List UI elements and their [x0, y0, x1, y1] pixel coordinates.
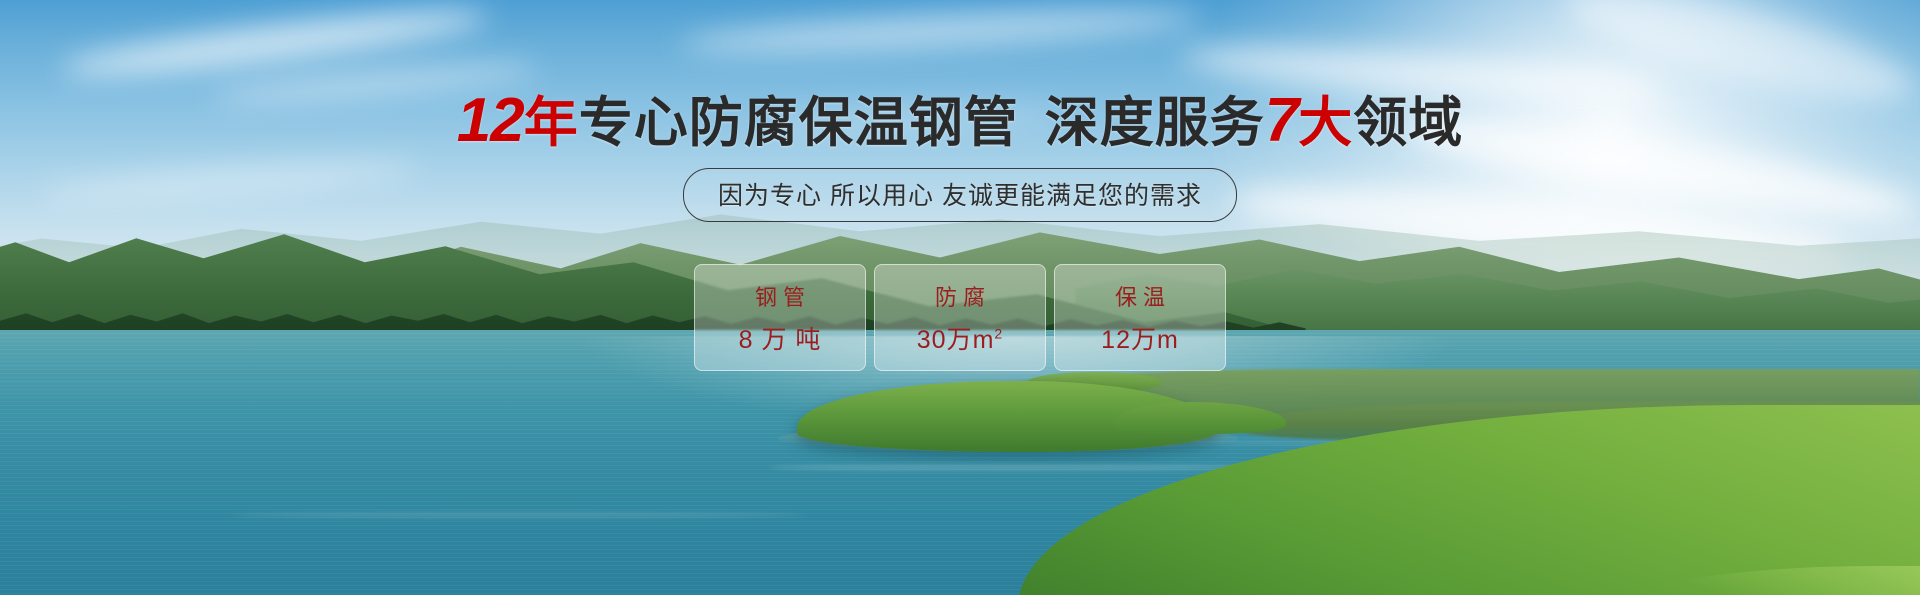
- stat-card-title: 保温: [1109, 280, 1171, 312]
- stat-card-value-text: 12万m: [1101, 326, 1179, 354]
- stat-card-anticorrosion: 防腐 30万m2: [874, 264, 1046, 371]
- headline-fields-number: 7: [1265, 86, 1298, 155]
- headline-years-unit: 年: [524, 93, 579, 153]
- stat-card-value-text: 30万m: [917, 326, 995, 354]
- headline-fields-tail: 领域: [1353, 93, 1463, 153]
- stat-card-steel-pipe: 钢管 8 万 吨: [694, 264, 866, 371]
- stat-card-value-superscript: 2: [994, 325, 1003, 341]
- headline-fields-unit: 大: [1298, 93, 1353, 153]
- stat-cards: 钢管 8 万 吨 防腐 30万m2 保温 12万m: [0, 264, 1920, 371]
- banner-overlay: 12年专心防腐保温钢管深度服务7大领域 因为专心 所以用心 友诚更能满足您的需求…: [0, 0, 1920, 595]
- stat-card-value: 30万m2: [917, 320, 1003, 356]
- subtitle-container: 因为专心 所以用心 友诚更能满足您的需求: [0, 168, 1920, 222]
- stat-card-value-text: 8 万 吨: [739, 326, 822, 354]
- headline-service: 深度服务: [1045, 93, 1265, 153]
- stat-card-insulation: 保温 12万m: [1054, 264, 1226, 371]
- stat-card-title: 防腐: [929, 280, 991, 312]
- page-title: 12年专心防腐保温钢管深度服务7大领域: [0, 78, 1920, 157]
- headline-years-number: 12: [457, 86, 524, 155]
- stat-card-title: 钢管: [749, 280, 811, 312]
- stat-card-value: 8 万 吨: [739, 320, 822, 356]
- subtitle-pill: 因为专心 所以用心 友诚更能满足您的需求: [683, 168, 1237, 222]
- headline-main: 专心防腐保温钢管: [579, 93, 1019, 153]
- promo-banner: 12年专心防腐保温钢管深度服务7大领域 因为专心 所以用心 友诚更能满足您的需求…: [0, 0, 1920, 595]
- stat-card-value: 12万m: [1101, 320, 1179, 356]
